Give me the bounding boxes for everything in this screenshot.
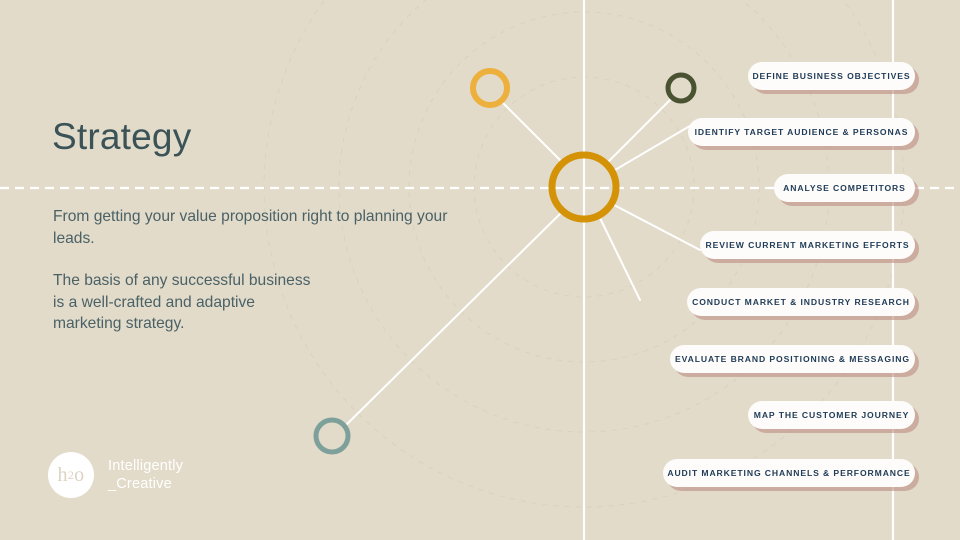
pill-item[interactable]: REVIEW CURRENT MARKETING EFFORTS [700, 231, 915, 259]
page-title: Strategy [52, 118, 191, 155]
gold-node [473, 71, 507, 105]
pill-item[interactable]: CONDUCT MARKET & INDUSTRY RESEARCH [687, 288, 915, 316]
logo-mark-text: h [58, 464, 68, 487]
pill-item[interactable]: IDENTIFY TARGET AUDIENCE & PERSONAS [688, 118, 915, 146]
teal-node [316, 420, 348, 452]
pill-item[interactable]: DEFINE BUSINESS OBJECTIVES [748, 62, 915, 90]
pill-item[interactable]: ANALYSE COMPETITORS [774, 174, 915, 202]
logo-mark-tail: o [74, 464, 84, 487]
pill-item[interactable]: EVALUATE BRAND POSITIONING & MESSAGING [670, 345, 915, 373]
body-paragraph-2: The basis of any successful business is … [53, 270, 453, 335]
logo-lockup: h2o Intelligently _Creative [48, 452, 183, 498]
slide-canvas: Strategy From getting your value proposi… [0, 0, 960, 540]
body-copy: From getting your value proposition righ… [53, 206, 453, 335]
pill-item[interactable]: AUDIT MARKETING CHANNELS & PERFORMANCE [663, 459, 915, 487]
logo-wordmark: Intelligently _Creative [108, 457, 183, 493]
pill-item[interactable]: MAP THE CUSTOMER JOURNEY [748, 401, 915, 429]
olive-node [668, 75, 694, 101]
h2o-logo-icon: h2o [48, 452, 94, 498]
body-paragraph-1: From getting your value proposition righ… [53, 206, 453, 249]
